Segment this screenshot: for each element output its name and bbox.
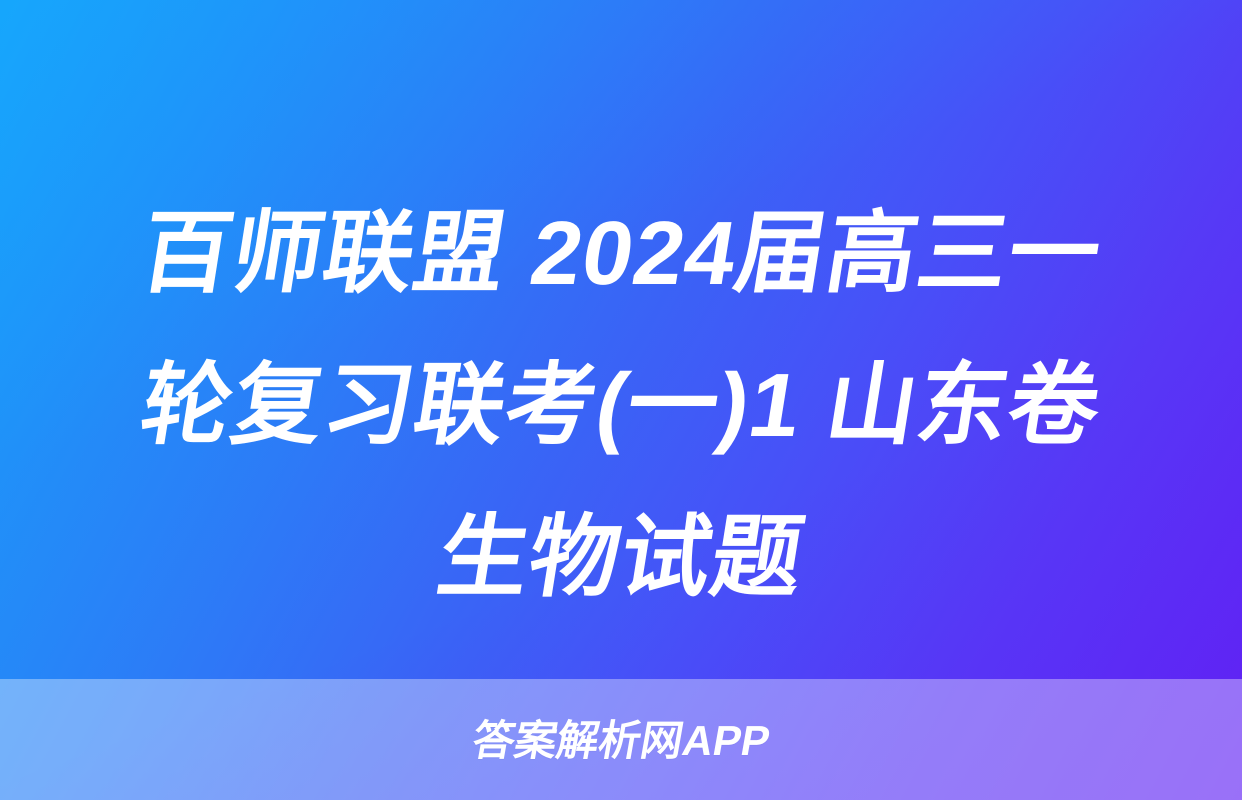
title-line-3: 生物试题 <box>427 482 815 634</box>
app-watermark-label: 答案解析网APP <box>469 720 773 762</box>
page-title: 百师联盟 2024届高三一 轮复习联考(一)1 山东卷 生物试题 <box>0 178 1242 638</box>
footer-watermark-band: 答案解析网APP <box>0 679 1242 800</box>
poster-card: 百师联盟 2024届高三一 轮复习联考(一)1 山东卷 生物试题 答案解析网AP… <box>0 0 1242 800</box>
title-line-2: 轮复习联考(一)1 山东卷 <box>130 330 1112 482</box>
title-line-1: 百师联盟 2024届高三一 <box>130 178 1112 330</box>
